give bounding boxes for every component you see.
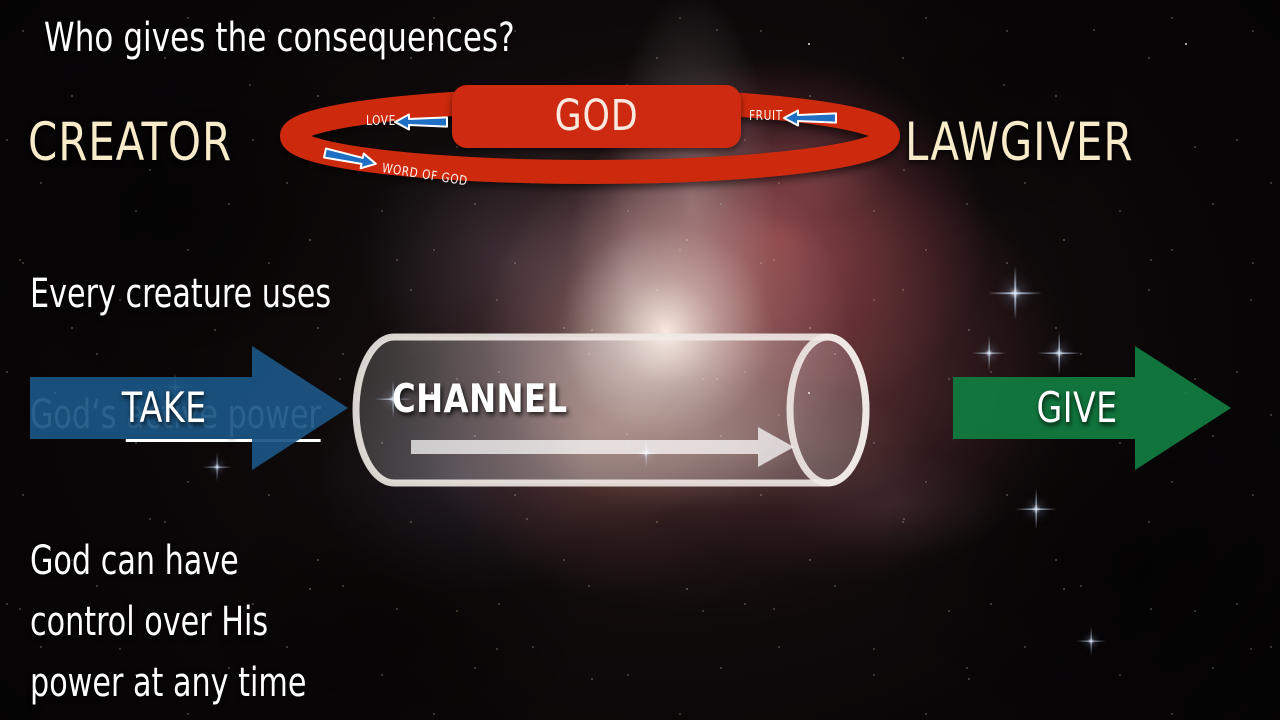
paragraph-line: Every creature uses	[30, 264, 331, 325]
presentation-slide: Who gives the consequences? CREATOR LAWG…	[0, 0, 1280, 720]
take-arrow-label: TAKE	[122, 387, 207, 429]
paragraph-gods-control: God can have control over His power at a…	[30, 531, 306, 713]
god-label-text: GOD	[555, 95, 639, 138]
take-arrow: TAKE	[30, 344, 350, 472]
role-label-lawgiver: LAWGIVER	[905, 116, 1133, 169]
cycle-label-fruit: FRUIT	[749, 110, 783, 123]
page-title: Who gives the consequences?	[44, 17, 515, 59]
give-arrow-label: GIVE	[1037, 387, 1118, 429]
give-arrow: GIVE	[953, 344, 1233, 472]
bright-star-icon	[1014, 292, 1016, 294]
bright-star-icon	[1035, 508, 1037, 510]
channel-label: CHANNEL	[392, 380, 568, 419]
cycle-label-love: LOVE	[366, 115, 396, 128]
cylinder-open-end	[790, 337, 866, 483]
bright-star-icon	[1090, 640, 1091, 641]
role-label-creator: CREATOR	[28, 116, 232, 169]
god-label-box: GOD	[452, 85, 741, 148]
channel-cylinder: CHANNEL	[348, 328, 878, 492]
